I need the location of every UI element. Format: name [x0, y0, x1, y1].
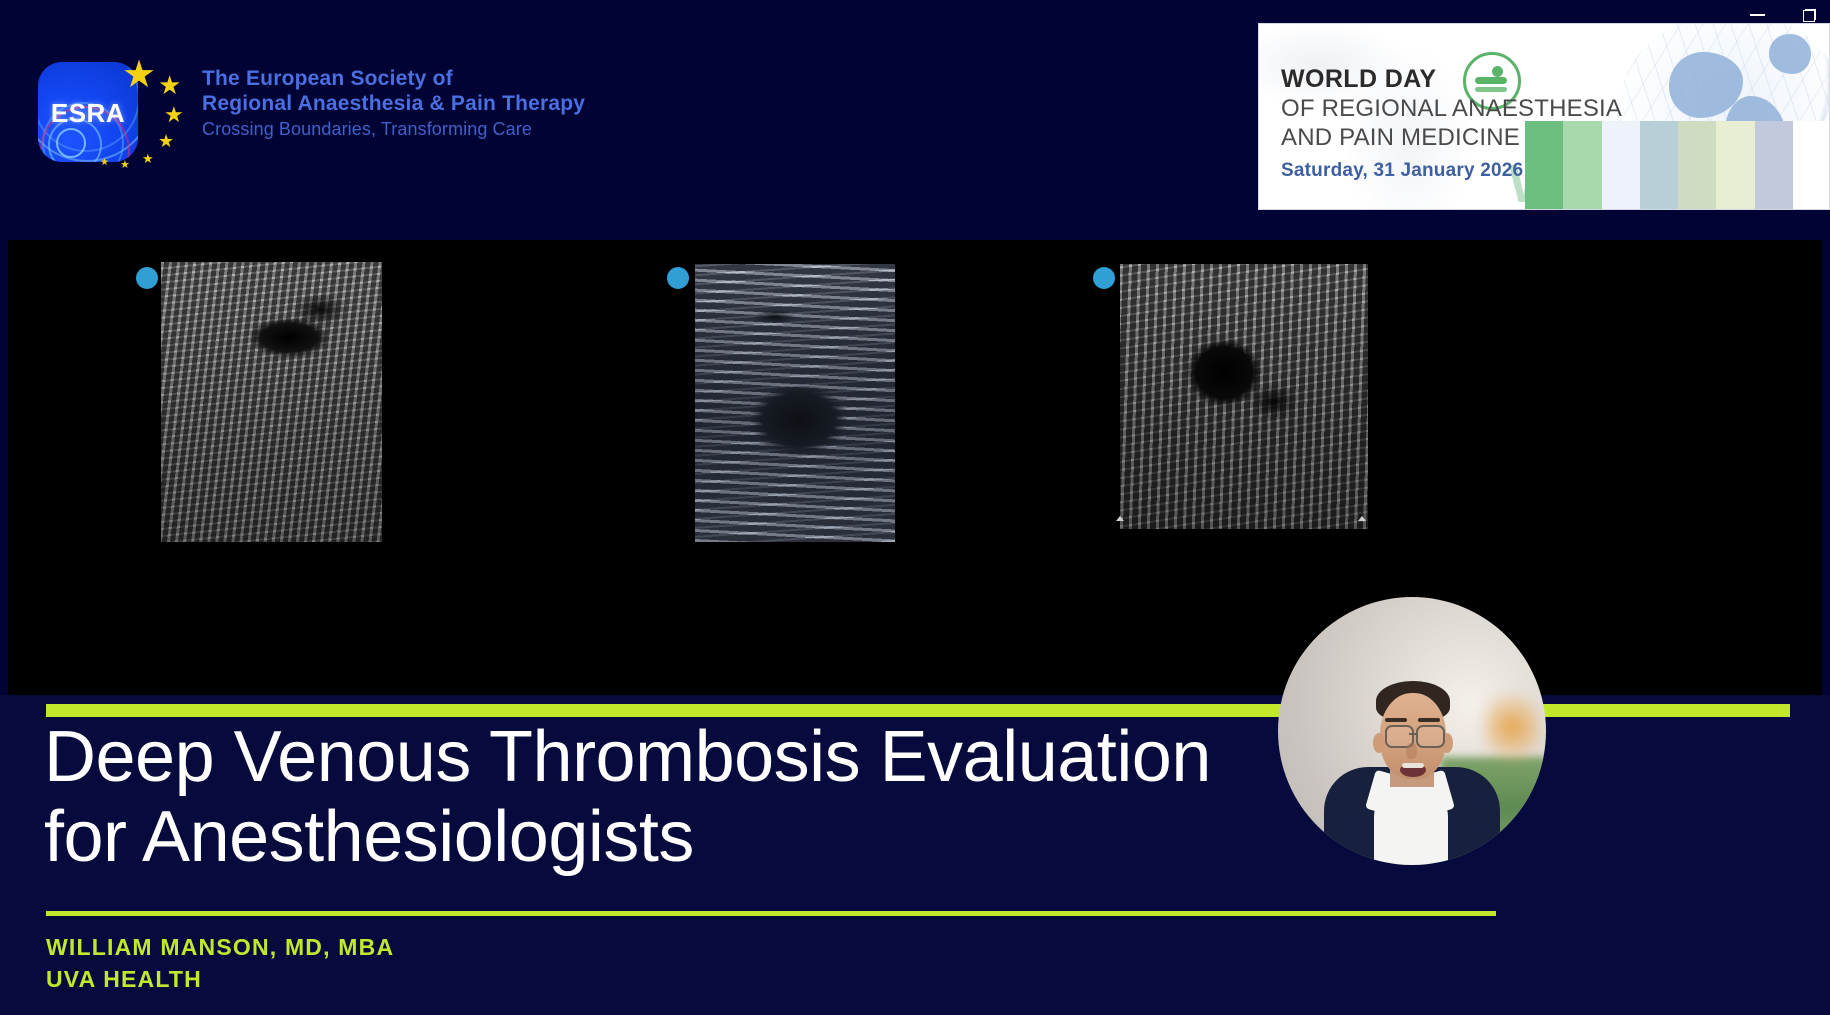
esra-wordmark: The European Society of Regional Anaesth…	[202, 66, 622, 142]
minimize-button[interactable]	[1744, 4, 1770, 26]
world-day-banner: WORLD DAY WORLD DAY OF REGIONAL ANAESTHE…	[1258, 23, 1830, 210]
title-line-2: for Anesthesiologists	[44, 797, 1314, 877]
ultrasound-marker-dot-2	[667, 267, 689, 289]
banner-subtitle-2: AND PAIN MEDICINE	[1281, 123, 1622, 152]
branding-header: ESRA ★ ★ ★ ★ ★ ★ ★ The European Society …	[0, 0, 1830, 240]
star-icon: ★	[120, 160, 130, 171]
speaker-nose	[1406, 743, 1417, 759]
esra-line-1: The European Society of	[202, 66, 622, 91]
ultrasound-image-3	[1120, 264, 1368, 529]
ultrasound-texture	[695, 264, 895, 542]
speaker-eyebrow-left	[1385, 718, 1407, 722]
eyeglasses-bridge	[1409, 733, 1418, 735]
title-line-1: Deep Venous Thrombosis Evaluation	[44, 717, 1314, 797]
star-icon: ★	[158, 72, 181, 98]
esra-line-2: Regional Anaesthesia & Pain Therapy	[202, 91, 622, 116]
eu-stars-icon: ★ ★ ★ ★ ★ ★ ★	[116, 52, 196, 182]
video-background-glow	[1484, 683, 1540, 771]
title-panel: Deep Venous Thrombosis Evaluation for An…	[0, 695, 1830, 1015]
speaker-teeth	[1402, 763, 1424, 768]
color-bar	[1640, 121, 1678, 209]
speaker-video-feed[interactable]	[1278, 597, 1546, 865]
restore-window-button[interactable]	[1796, 4, 1822, 26]
color-bar	[1755, 121, 1793, 209]
banner-subtitle-1: OF REGIONAL ANAESTHESIA	[1281, 94, 1622, 123]
window-controls[interactable]	[1744, 2, 1822, 28]
speaker-ear-left	[1373, 733, 1385, 753]
color-bar	[1678, 121, 1716, 209]
ultrasound-image-2	[695, 264, 895, 542]
color-bar	[1716, 121, 1754, 209]
presentation-window: ESRA ★ ★ ★ ★ ★ ★ ★ The European Society …	[0, 0, 1830, 1015]
ultrasound-marker-dot-1	[136, 267, 158, 289]
slide-image-band	[8, 240, 1822, 695]
star-icon: ★	[142, 152, 154, 165]
esra-tagline: Crossing Boundaries, Transforming Care	[202, 116, 622, 142]
esra-logo: ESRA ★ ★ ★ ★ ★ ★ ★ The European Society …	[38, 52, 558, 172]
eyeglasses-icon	[1416, 725, 1445, 748]
star-icon: ★	[122, 56, 156, 94]
star-icon: ★	[158, 132, 174, 150]
color-bar	[1793, 121, 1830, 209]
presenter-name: WILLIAM MANSON, MD, MBA	[46, 931, 394, 963]
star-icon: ★	[164, 104, 184, 126]
accent-bar-bottom	[46, 911, 1496, 916]
page-title: Deep Venous Thrombosis Evaluation for An…	[44, 717, 1314, 877]
banner-text-block: WORLD DAY OF REGIONAL ANAESTHESIA AND PA…	[1281, 64, 1622, 182]
banner-title: WORLD DAY	[1281, 64, 1622, 94]
ultrasound-texture	[161, 262, 382, 542]
presenter-affiliation: UVA HEALTH	[46, 963, 394, 995]
ultrasound-texture	[1120, 264, 1368, 529]
star-icon: ★	[100, 158, 109, 168]
speaker-eyebrow-right	[1418, 718, 1440, 722]
banner-date: Saturday, 31 January 2026	[1281, 160, 1622, 182]
ultrasound-image-1	[161, 262, 382, 542]
presenter-block: WILLIAM MANSON, MD, MBA UVA HEALTH	[46, 931, 394, 995]
ultrasound-marker-dot-3	[1093, 267, 1115, 289]
